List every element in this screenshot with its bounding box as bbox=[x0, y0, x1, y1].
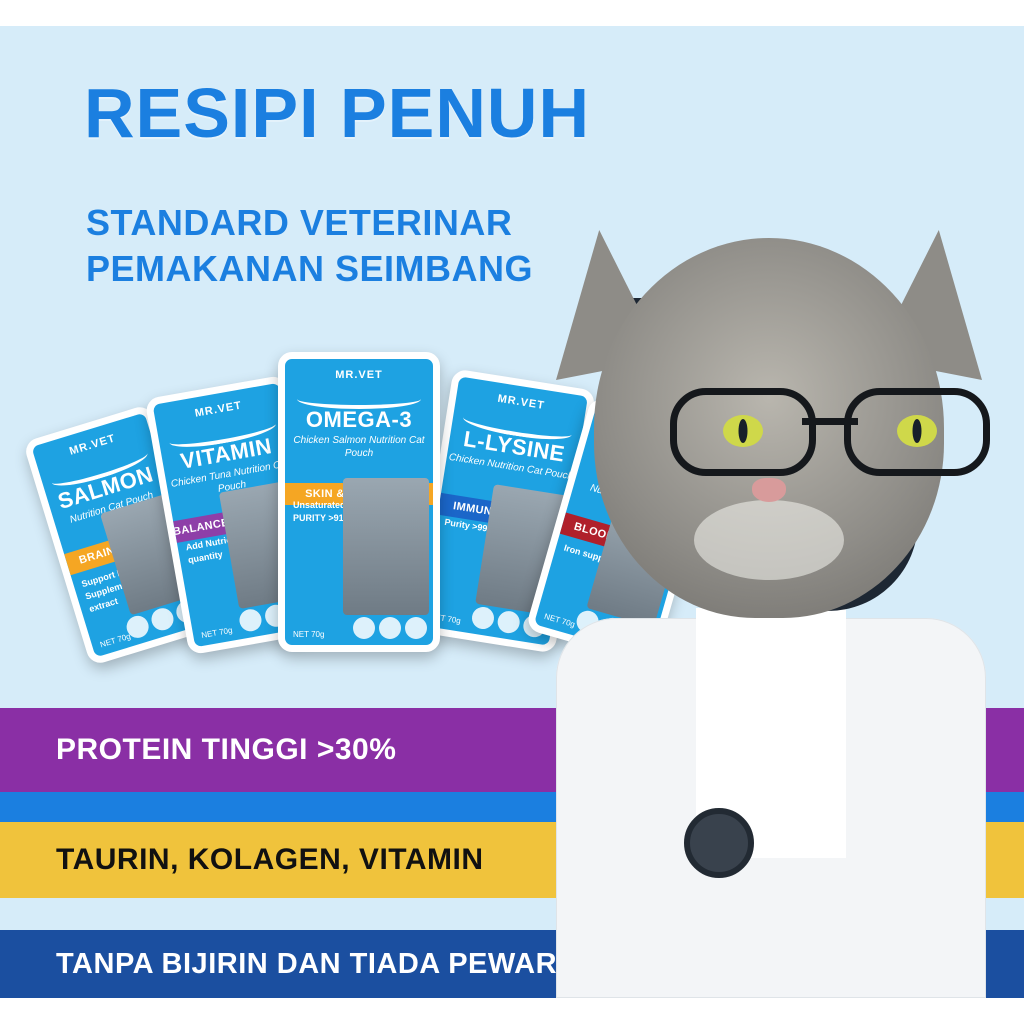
mascot-vet-cat: SINGAPORE bbox=[534, 238, 1004, 998]
poster-canvas: RESIPI PENUH STANDARD VETERINAR PEMAKANA… bbox=[0, 0, 1024, 1024]
subtitle-line-1: STANDARD VETERINAR bbox=[86, 200, 533, 246]
eyeglasses-icon bbox=[670, 388, 990, 462]
cat-eye-left bbox=[723, 415, 763, 447]
pouch-cat-photo bbox=[343, 478, 429, 615]
swoosh-icon bbox=[297, 389, 421, 409]
feature-bar-vitamin-label: TAURIN, KOLAGEN, VITAMIN bbox=[0, 843, 484, 877]
product-weight: NET 70g bbox=[99, 632, 132, 650]
glasses-lens-left bbox=[670, 388, 816, 476]
lab-coat bbox=[556, 618, 986, 998]
frame-top-bar bbox=[0, 0, 1024, 26]
cat-eye-right bbox=[897, 415, 937, 447]
page-title: RESIPI PENUH bbox=[84, 78, 590, 148]
brand-logo: MR.VET bbox=[335, 369, 383, 381]
glasses-lens-right bbox=[844, 388, 990, 476]
product-subtitle: Chicken Salmon Nutrition Cat Pouch bbox=[285, 435, 433, 460]
stethoscope-chestpiece-icon bbox=[684, 808, 754, 878]
brand-logo: MR.VET bbox=[194, 400, 243, 420]
cat-nose bbox=[752, 478, 786, 502]
product-pouch-omega3[interactable]: MR.VET OMEGA-3 Chicken Salmon Nutrition … bbox=[278, 352, 440, 652]
cat-muzzle bbox=[694, 500, 844, 580]
feature-bar-protein-label: PROTEIN TINGGI >30% bbox=[0, 733, 396, 767]
product-weight: NET 70g bbox=[201, 626, 234, 640]
subtitle-line-2: PEMAKANAN SEIMBANG bbox=[86, 246, 533, 292]
pouch-badges bbox=[353, 617, 427, 639]
frame-bottom-bar bbox=[0, 998, 1024, 1024]
cat-head bbox=[594, 238, 944, 618]
product-name: OMEGA-3 bbox=[285, 407, 433, 433]
product-weight: NET 70g bbox=[293, 630, 324, 639]
page-subtitle: STANDARD VETERINAR PEMAKANAN SEIMBANG bbox=[86, 200, 533, 292]
